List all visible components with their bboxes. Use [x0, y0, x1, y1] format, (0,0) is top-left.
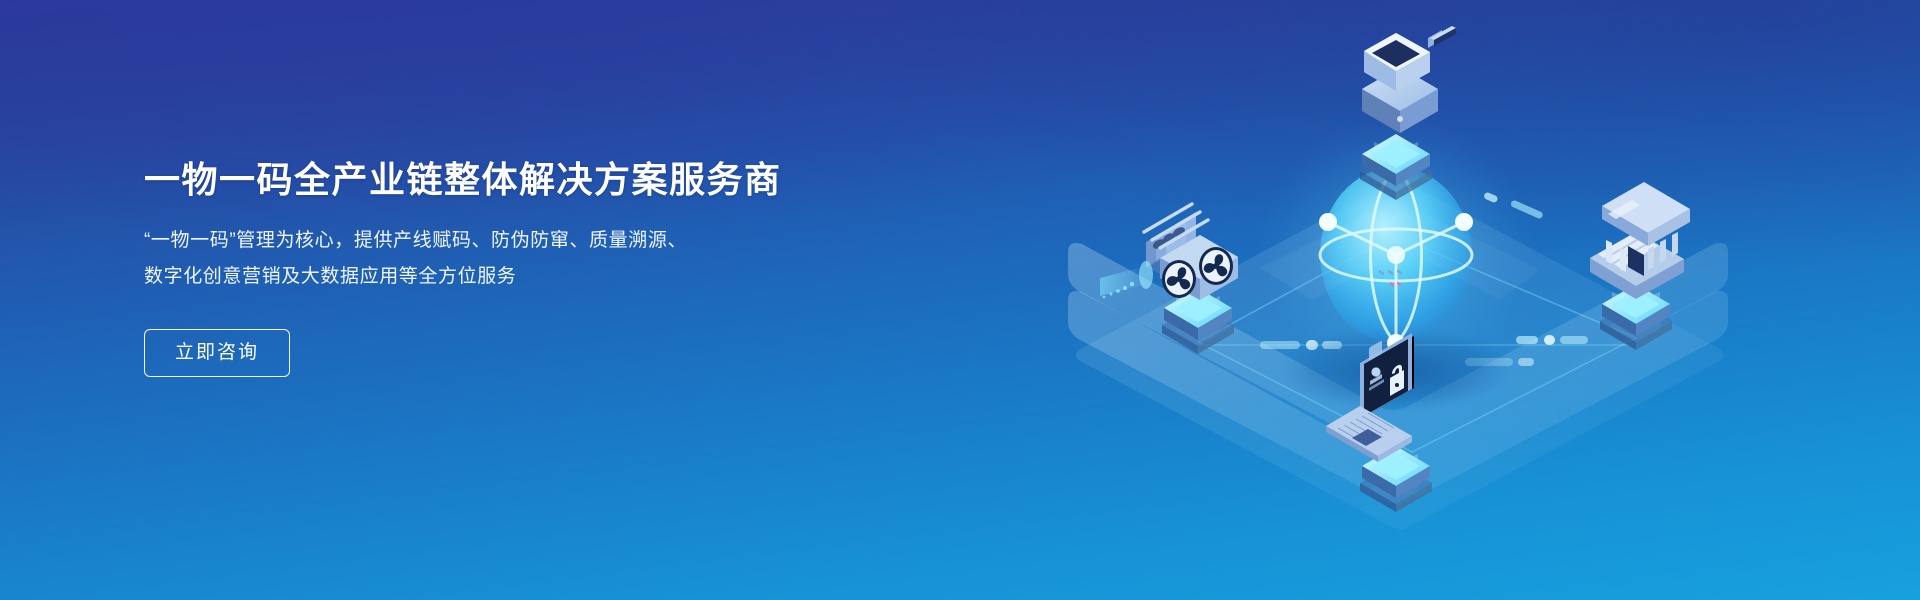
- consult-now-button[interactable]: 立即咨询: [144, 329, 290, 377]
- hero-copy: 一物一码全产业链整体解决方案服务商 “一物一码”管理为核心，提供产线赋码、防伪防…: [144, 158, 782, 377]
- illustration-iot-network: [960, 0, 1920, 600]
- server-fan-rack-icon: [1100, 204, 1238, 300]
- subtitle-line-2: 数字化创意营销及大数据应用等全方位服务: [144, 259, 782, 295]
- hero-subtitle: “一物一码”管理为核心，提供产线赋码、防伪防窜、质量溯源、 数字化创意营销及大数…: [144, 223, 782, 295]
- page-title: 一物一码全产业链整体解决方案服务商: [144, 158, 782, 201]
- hero-banner: 一物一码全产业链整体解决方案服务商 “一物一码”管理为核心，提供产线赋码、防伪防…: [0, 0, 1920, 600]
- subtitle-line-1: “一物一码”管理为核心，提供产线赋码、防伪防窜、质量溯源、: [144, 223, 782, 259]
